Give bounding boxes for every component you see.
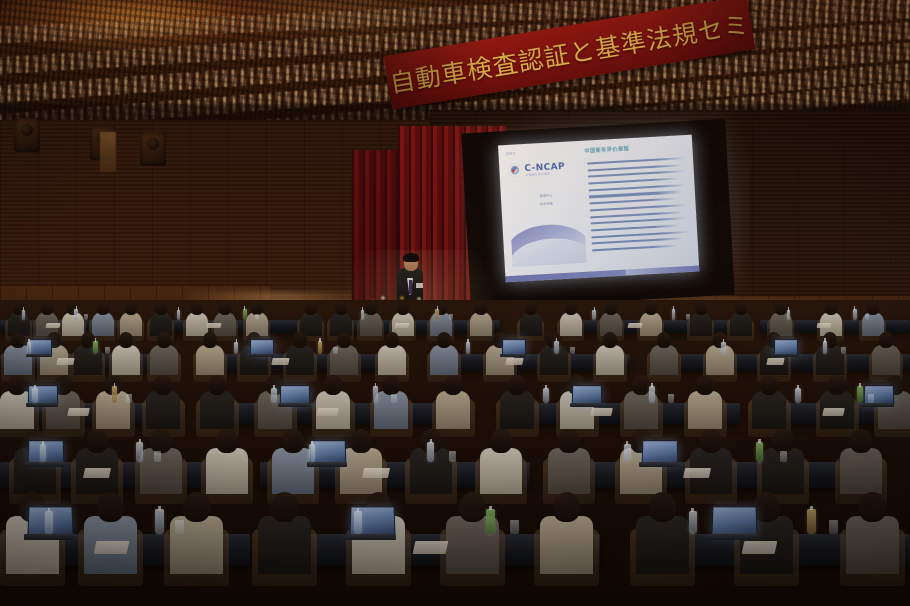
water-bottle-icon xyxy=(624,444,631,462)
water-bottle-icon xyxy=(32,388,37,403)
handout-paper xyxy=(45,323,60,328)
water-bottle-icon xyxy=(486,509,495,534)
slide-text-line xyxy=(587,164,682,171)
attendee-body xyxy=(258,516,311,574)
handout-paper xyxy=(413,541,448,554)
attendee-head xyxy=(553,492,581,522)
laptop-icon xyxy=(572,385,600,408)
water-bottle-icon xyxy=(155,509,164,534)
handout-paper xyxy=(68,408,91,416)
slide-text-line xyxy=(588,177,679,184)
handout-paper xyxy=(394,323,409,328)
slide-footer-bar xyxy=(505,265,699,282)
slide-left-notes: 管理中心 技术规程 xyxy=(523,192,570,211)
water-bottle-icon xyxy=(823,341,828,354)
attendee-body xyxy=(206,448,248,494)
drinking-glass xyxy=(841,347,846,354)
attendee-head xyxy=(208,375,226,395)
water-bottle-icon xyxy=(243,309,247,319)
water-bottle-icon xyxy=(22,310,25,319)
attendee-body xyxy=(872,345,900,375)
water-bottle-icon xyxy=(554,341,559,354)
laptop-base xyxy=(25,462,65,467)
laptop-base xyxy=(24,534,74,540)
slide-text-line xyxy=(587,157,685,165)
attendee-head xyxy=(397,302,408,314)
attendee-head xyxy=(154,375,172,395)
attendee-head xyxy=(203,332,218,348)
laptop-screen[interactable] xyxy=(642,440,679,464)
attendee-head xyxy=(645,302,656,314)
attendee-head xyxy=(8,375,26,395)
attendee-body xyxy=(62,312,84,336)
slide-text-line xyxy=(589,184,686,192)
drinking-glass xyxy=(126,394,132,403)
attendee-body xyxy=(688,391,722,429)
attendee-body xyxy=(146,391,180,429)
attendee-body xyxy=(92,312,114,336)
attendee-head xyxy=(119,332,134,348)
laptop-icon xyxy=(28,339,50,357)
water-bottle-icon xyxy=(857,386,863,402)
attendee-head xyxy=(696,375,714,395)
handout-paper xyxy=(505,358,524,365)
attendee-body xyxy=(480,448,522,494)
water-bottle-icon xyxy=(271,388,276,403)
slide-text-line xyxy=(590,217,686,224)
audience-area: 関 係 者関 係 者関 係 者 xyxy=(0,300,910,606)
attendee-head xyxy=(191,302,202,314)
water-bottle-icon xyxy=(689,511,697,534)
attendee-head xyxy=(271,492,299,522)
attendee-head xyxy=(459,492,487,522)
laptop-base xyxy=(500,354,526,357)
drinking-glass xyxy=(668,394,674,403)
water-bottle-icon xyxy=(721,342,725,354)
attendee-head xyxy=(490,429,512,453)
slide-swoosh-graphic xyxy=(510,213,587,267)
water-bottle-icon xyxy=(27,342,31,354)
attendee-head xyxy=(825,302,836,314)
attendee-body xyxy=(272,448,314,494)
attendee-body xyxy=(430,345,458,375)
attendee-head xyxy=(365,302,376,314)
water-bottle-icon xyxy=(756,442,763,462)
attendee-head xyxy=(850,429,872,453)
projection-screen: 资料2 中国新车评价规程 C-NCAP 中国新车评价规程 管理中心 技术规程 xyxy=(461,119,734,309)
wall-speaker-icon xyxy=(140,132,166,166)
presentation-slide: 资料2 中国新车评价规程 C-NCAP 中国新车评价规程 管理中心 技术规程 xyxy=(498,135,699,283)
laptop-screen[interactable] xyxy=(572,385,602,405)
slide-text-line xyxy=(592,238,684,245)
water-bottle-icon xyxy=(45,511,53,534)
water-bottle-icon xyxy=(592,310,595,319)
drinking-glass xyxy=(570,347,575,354)
attendee-body xyxy=(470,312,492,336)
laptop-icon xyxy=(774,339,796,357)
attendee-body xyxy=(150,345,178,375)
drinking-glass xyxy=(865,314,869,320)
attendee-head xyxy=(565,302,576,314)
laptop-screen[interactable] xyxy=(280,385,310,405)
attendee-body xyxy=(112,345,140,375)
attendee-head xyxy=(879,332,894,348)
speaker-hair xyxy=(403,253,419,262)
handout-paper xyxy=(362,468,390,478)
water-bottle-icon xyxy=(649,386,655,402)
drinking-glass xyxy=(391,394,397,403)
slide-text-line xyxy=(589,191,683,198)
attendee-body xyxy=(520,312,542,336)
attendee-body xyxy=(816,345,844,375)
attendee-head xyxy=(97,302,108,314)
attendee-head xyxy=(632,375,650,395)
handout-paper xyxy=(767,358,786,365)
water-bottle-icon xyxy=(427,442,434,462)
attendee-head xyxy=(293,332,308,348)
drinking-glass xyxy=(255,314,259,320)
drinking-glass xyxy=(780,451,787,462)
laptop-base xyxy=(639,462,679,467)
attendee-body xyxy=(200,391,234,429)
water-bottle-icon xyxy=(112,386,118,402)
water-bottle-icon xyxy=(466,342,470,354)
attendee-body xyxy=(640,312,662,336)
water-bottle-icon xyxy=(354,511,362,534)
handout-paper xyxy=(83,468,111,478)
attendee-head xyxy=(558,429,580,453)
slide-text-line xyxy=(592,245,677,252)
attendee-head xyxy=(753,492,781,522)
attendee-head xyxy=(385,332,400,348)
laptop-screen[interactable] xyxy=(711,506,757,535)
handout-paper xyxy=(816,323,831,328)
slide-text-line xyxy=(590,204,688,212)
water-bottle-icon xyxy=(74,309,78,319)
attendee-head xyxy=(695,302,706,314)
drinking-glass xyxy=(449,314,453,320)
attendee-head xyxy=(11,332,26,348)
attendee-head xyxy=(603,332,618,348)
slide-left-note-1: 管理中心 xyxy=(523,192,569,200)
water-bottle-icon xyxy=(672,309,676,319)
attendee-head xyxy=(282,429,304,453)
attendee-head xyxy=(735,302,746,314)
laptop-base xyxy=(708,534,758,540)
attendee-head xyxy=(828,375,846,395)
laptop-icon xyxy=(712,506,755,541)
attendee-body xyxy=(706,345,734,375)
drinking-glass xyxy=(175,520,184,534)
attendee-head xyxy=(772,429,794,453)
attendee-head xyxy=(86,429,108,453)
slide-text-line xyxy=(591,231,689,239)
drinking-glass xyxy=(868,394,874,403)
water-bottle-icon xyxy=(807,509,816,534)
attendee-body xyxy=(500,391,534,429)
laptop-base xyxy=(278,403,311,407)
water-bottle-icon xyxy=(309,444,316,462)
wall-sign xyxy=(100,132,116,172)
laptop-icon xyxy=(280,385,308,408)
attendee-body xyxy=(846,516,899,574)
water-bottle-icon xyxy=(40,444,47,462)
slide-text-line xyxy=(590,211,683,218)
slide-corner-label: 资料2 xyxy=(505,151,515,157)
water-bottle-icon xyxy=(136,442,143,462)
laptop-icon xyxy=(310,440,344,468)
handout-paper xyxy=(683,468,711,478)
laptop-base xyxy=(26,354,52,357)
attendee-body xyxy=(436,391,470,429)
attendee-head xyxy=(157,332,172,348)
slide-body-text xyxy=(587,157,691,256)
attendee-body xyxy=(560,312,582,336)
attendee-head xyxy=(305,302,316,314)
handout-paper xyxy=(628,323,643,328)
attendee-head xyxy=(605,302,616,314)
attendee-head xyxy=(350,429,372,453)
attendee-head xyxy=(444,375,462,395)
drinking-glass xyxy=(84,314,88,320)
attendee-head xyxy=(775,302,786,314)
drinking-glass xyxy=(154,451,161,462)
laptop-base xyxy=(570,403,603,407)
attendee-head xyxy=(508,375,526,395)
attendee-head xyxy=(525,302,536,314)
attendee-body xyxy=(690,312,712,336)
attendee-head xyxy=(183,492,211,522)
attendee-head xyxy=(324,375,342,395)
laptop-base xyxy=(26,403,59,407)
laptop-icon xyxy=(642,440,676,468)
laptop-icon xyxy=(250,339,272,357)
attendee-body xyxy=(286,345,314,375)
attendee-head xyxy=(649,492,677,522)
slide-text-line xyxy=(589,198,676,205)
attendee-head xyxy=(97,492,125,522)
laptop-base xyxy=(772,354,798,357)
handout-paper xyxy=(822,408,845,416)
attendee-body xyxy=(752,391,786,429)
attendee-head xyxy=(867,302,878,314)
attendee-head xyxy=(155,302,166,314)
handout-paper xyxy=(94,541,129,554)
attendee-body xyxy=(596,345,624,375)
water-bottle-icon xyxy=(177,310,180,319)
handout-paper xyxy=(317,408,340,416)
attendee-head xyxy=(437,332,452,348)
attendee-body xyxy=(840,448,882,494)
attendee-head xyxy=(216,429,238,453)
laptop-base xyxy=(248,354,274,357)
attendee-head xyxy=(337,332,352,348)
attendee-head xyxy=(251,302,262,314)
attendee-body xyxy=(140,448,182,494)
slide-left-note-2: 技术规程 xyxy=(523,200,569,208)
cncap-logo-mark-icon xyxy=(508,163,522,177)
water-bottle-icon xyxy=(234,342,238,354)
water-bottle-icon xyxy=(361,310,364,319)
attendee-head xyxy=(475,302,486,314)
attendee-body xyxy=(378,345,406,375)
slide-title: 中国新车评价规程 xyxy=(584,145,629,154)
water-bottle-icon xyxy=(853,309,857,319)
water-bottle-icon xyxy=(373,386,379,402)
water-bottle-icon xyxy=(93,341,98,354)
laptop-base xyxy=(862,403,895,407)
water-bottle-icon xyxy=(543,388,548,403)
attendee-body xyxy=(548,448,590,494)
drinking-glass xyxy=(829,520,838,534)
handout-paper xyxy=(56,358,75,365)
attendee-head xyxy=(150,429,172,453)
attendee-head xyxy=(382,375,400,395)
attendee-head xyxy=(219,302,230,314)
water-bottle-icon xyxy=(435,309,439,319)
laptop-icon xyxy=(502,339,524,357)
wall-speaker-icon xyxy=(14,118,40,152)
slide-text-line xyxy=(588,170,686,178)
handout-paper xyxy=(271,358,290,365)
handout-paper xyxy=(590,408,613,416)
handout-paper xyxy=(741,541,776,554)
slide-text-line xyxy=(591,224,680,231)
attendee-head xyxy=(125,302,136,314)
laptop-base xyxy=(346,534,396,540)
attendee-head xyxy=(859,492,887,522)
drinking-glass xyxy=(333,347,338,354)
attendee-body xyxy=(730,312,752,336)
laptop-base xyxy=(307,462,347,467)
attendee-head xyxy=(657,332,672,348)
attendee-body xyxy=(540,516,593,574)
handout-paper xyxy=(206,323,221,328)
attendee-head xyxy=(700,429,722,453)
attendee-head xyxy=(335,302,346,314)
drinking-glass xyxy=(686,314,690,320)
speaker-badge xyxy=(416,283,423,288)
water-bottle-icon xyxy=(318,341,323,354)
attendee-head xyxy=(760,375,778,395)
attendee-body xyxy=(650,345,678,375)
seminar-hall-photo: 中日自動車検査認証と基準法規セミナー 资料2 中国新车评价规程 C-NCAP 中… xyxy=(0,0,910,606)
drinking-glass xyxy=(449,451,456,462)
drinking-glass xyxy=(105,347,110,354)
water-bottle-icon xyxy=(795,388,800,403)
laptop-screen[interactable] xyxy=(310,440,347,464)
drinking-glass xyxy=(510,520,519,534)
water-bottle-icon xyxy=(787,310,790,319)
attendee-body xyxy=(636,516,689,574)
attendee-body xyxy=(196,345,224,375)
attendee-head xyxy=(41,302,52,314)
attendee-body xyxy=(186,312,208,336)
